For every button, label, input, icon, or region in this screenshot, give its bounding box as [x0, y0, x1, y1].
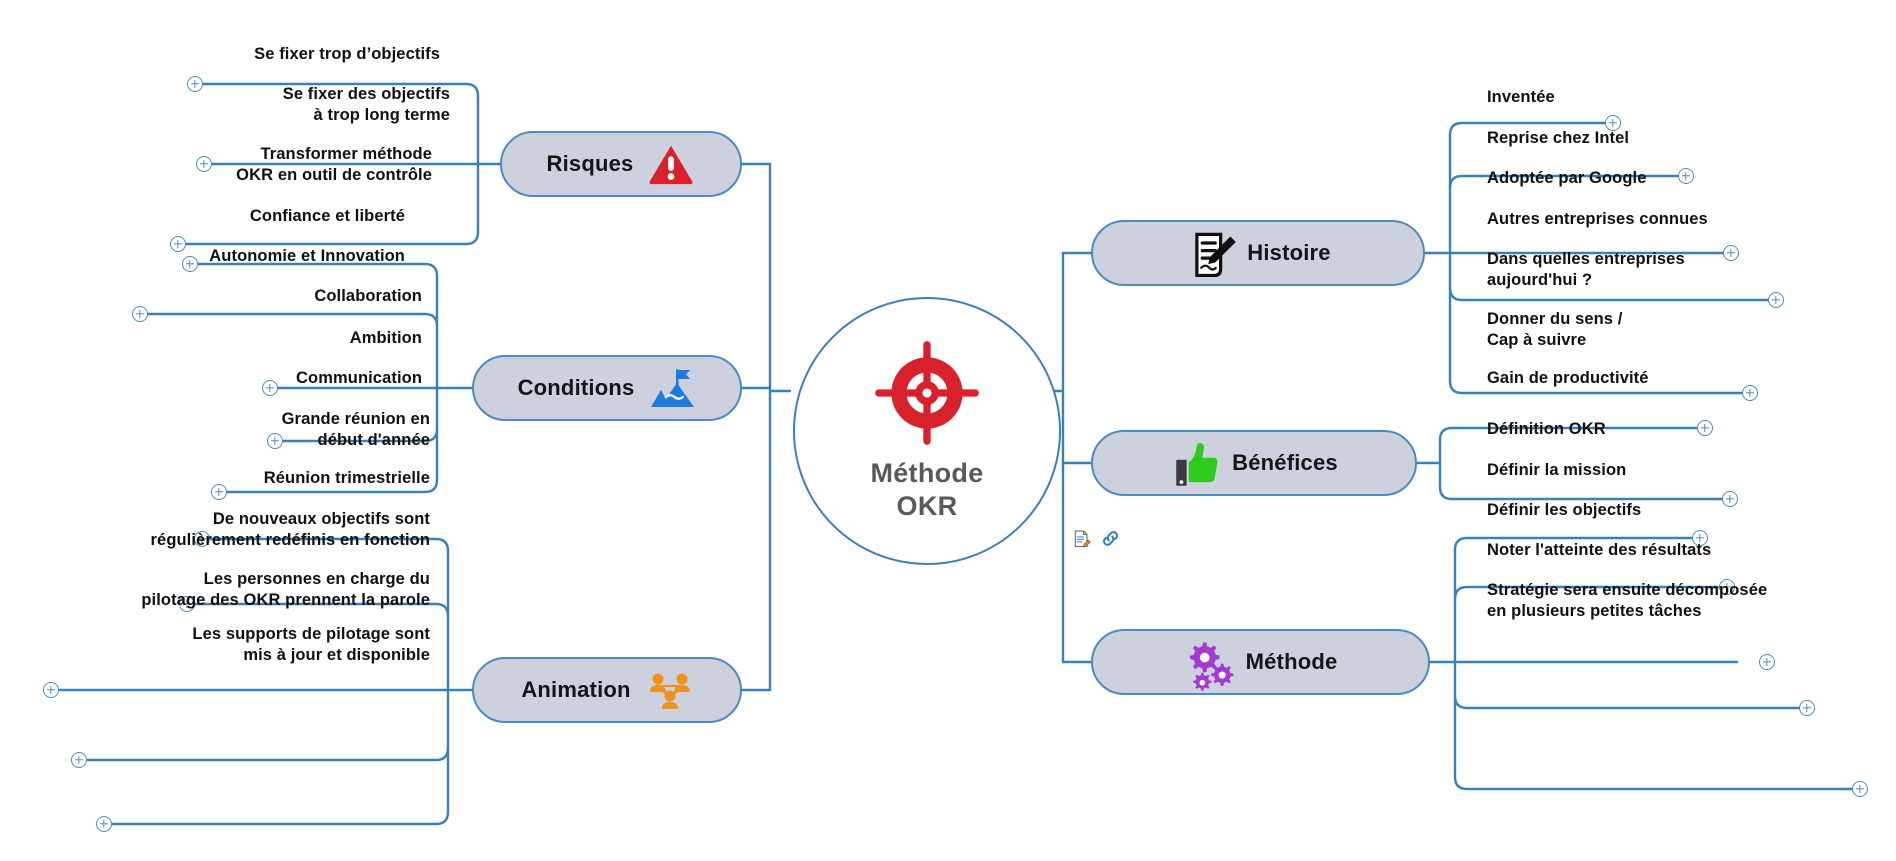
expand-toggle-histoire-3[interactable] — [1768, 292, 1784, 308]
leaf-animation-4[interactable]: Les supports de pilotage sont mis à jour… — [0, 624, 430, 666]
gears-icon — [1184, 638, 1232, 686]
node-annotation-icons — [1072, 528, 1121, 549]
expand-toggle-animation-3[interactable] — [71, 752, 87, 768]
root-node[interactable]: Méthode OKR — [793, 297, 1061, 565]
branch-node-conditions[interactable]: Conditions — [472, 355, 742, 421]
note-icon[interactable] — [1072, 529, 1092, 549]
branch-node-benefices[interactable]: Bénéfices — [1091, 430, 1417, 496]
document-pencil-icon — [1185, 229, 1233, 277]
leaf-animation-1[interactable]: Réunion trimestrielle — [0, 468, 430, 489]
leaf-histoire-4[interactable]: Dans quelles entreprises aujourd'hui ? — [1487, 249, 1896, 291]
branch-label-histoire: Histoire — [1247, 240, 1331, 266]
branch-label-animation: Animation — [521, 677, 630, 703]
branch-label-risques: Risques — [547, 151, 634, 177]
leaf-animation-3[interactable]: Les personnes en charge du pilotage des … — [0, 569, 430, 611]
leaf-histoire-1[interactable]: Reprise chez Intel — [1487, 128, 1896, 149]
leaf-conditions-4[interactable]: Communication — [0, 368, 422, 389]
branch-label-benefices: Bénéfices — [1232, 450, 1338, 476]
branch-node-animation[interactable]: Animation — [472, 657, 742, 723]
leaf-methode-2[interactable]: Définir les objectifs — [1487, 500, 1896, 521]
leaf-conditions-2[interactable]: Collaboration — [0, 286, 422, 307]
leaf-conditions-0[interactable]: Confiance et liberté — [0, 206, 405, 227]
leaf-animation-0[interactable]: Grande réunion en début d'année — [0, 409, 430, 451]
branch-node-methode[interactable]: Méthode — [1091, 629, 1430, 695]
root-label-line2: OKR — [870, 490, 983, 523]
leaf-risques-1[interactable]: Se fixer des objectifs à trop long terme — [0, 84, 450, 126]
root-label: Méthode OKR — [870, 457, 983, 523]
branch-node-histoire[interactable]: Histoire — [1091, 220, 1425, 286]
branch-label-conditions: Conditions — [518, 375, 635, 401]
branch-label-methode: Méthode — [1246, 649, 1338, 675]
leaf-risques-0[interactable]: Se fixer trop d’objectifs — [0, 44, 440, 65]
leaf-methode-3[interactable]: Noter l'atteinte des résultats — [1487, 540, 1896, 561]
target-icon — [873, 339, 981, 447]
leaf-animation-2[interactable]: De nouveaux objectifs sont régulièrement… — [0, 509, 430, 551]
people-network-icon — [645, 666, 693, 714]
leaf-benefices-0[interactable]: Donner du sens / Cap à suivre — [1487, 309, 1896, 351]
mountain-flag-icon — [648, 364, 696, 412]
leaf-methode-0[interactable]: Définition OKR — [1487, 419, 1896, 440]
thumbs-up-icon — [1170, 439, 1218, 487]
expand-toggle-animation-4[interactable] — [96, 816, 112, 832]
leaf-conditions-1[interactable]: Autonomie et Innovation — [0, 246, 405, 267]
expand-toggle-animation-2[interactable] — [43, 682, 59, 698]
leaf-histoire-2[interactable]: Adoptée par Google — [1487, 168, 1896, 189]
root-label-line1: Méthode — [870, 457, 983, 490]
mindmap-canvas: Méthode OKR Risqu — [0, 0, 1896, 861]
leaf-risques-2[interactable]: Transformer méthode OKR en outil de cont… — [0, 144, 432, 186]
warning-triangle-icon — [647, 140, 695, 188]
leaf-histoire-0[interactable]: Inventée — [1487, 87, 1896, 108]
link-icon[interactable] — [1100, 528, 1121, 549]
expand-toggle-methode-2[interactable] — [1759, 654, 1775, 670]
expand-toggle-methode-4[interactable] — [1852, 781, 1868, 797]
expand-toggle-conditions-1[interactable] — [132, 306, 148, 322]
leaf-benefices-1[interactable]: Gain de productivité — [1487, 368, 1896, 389]
leaf-histoire-3[interactable]: Autres entreprises connues — [1487, 209, 1896, 230]
branch-node-risques[interactable]: Risques — [500, 131, 742, 197]
leaf-methode-1[interactable]: Définir la mission — [1487, 460, 1896, 481]
leaf-conditions-3[interactable]: Ambition — [0, 328, 422, 349]
leaf-methode-4[interactable]: Stratégie sera ensuite décomposée en plu… — [1487, 580, 1896, 622]
expand-toggle-methode-3[interactable] — [1799, 700, 1815, 716]
